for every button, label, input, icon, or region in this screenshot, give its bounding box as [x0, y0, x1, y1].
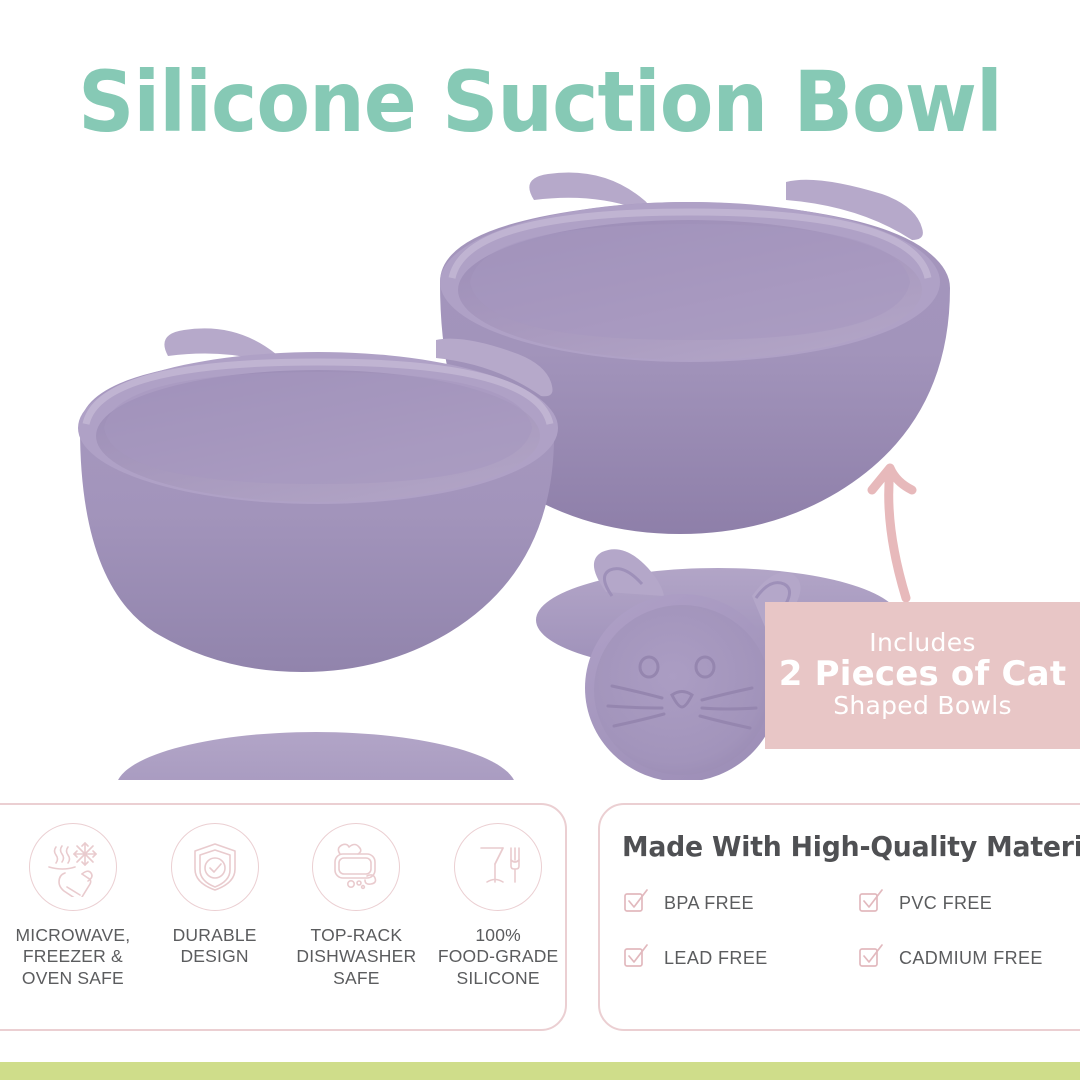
callout-line-3: Shaped Bowls [833, 692, 1012, 720]
material-item-lead-free: LEAD FREE [622, 942, 857, 975]
material-item-pvc-free: PVC FREE [857, 887, 1080, 920]
feature-label: MICROWAVE, FREEZER & OVEN SAFE [15, 925, 130, 989]
feature-label: TOP-RACK DISHWASHER SAFE [296, 925, 416, 989]
feature-label: DURABLE DESIGN [173, 925, 257, 968]
material-label: CADMIUM FREE [899, 948, 1043, 969]
feature-top-rack-dishwasher: TOP-RACK DISHWASHER SAFE [290, 823, 422, 989]
checkbox-checked-icon [857, 887, 885, 920]
feature-label: 100% FOOD-GRADE SILICONE [438, 925, 559, 989]
features-panel: MICROWAVE, FREEZER & OVEN SAFE DURABLE D… [0, 803, 567, 1031]
material-item-bpa-free: BPA FREE [622, 887, 857, 920]
checkbox-checked-icon [622, 887, 650, 920]
callout-line-2: 2 Pieces of Cat [779, 656, 1067, 692]
material-label: PVC FREE [899, 893, 992, 914]
bottom-accent-bar [0, 1062, 1080, 1080]
glass-fork-food-grade-icon [454, 823, 542, 911]
materials-title: Made With High-Quality Materials [622, 831, 1080, 863]
infographic-stage: Silicone Suction Bowl [0, 0, 1080, 1080]
material-label: LEAD FREE [664, 948, 768, 969]
callout-line-1: Includes [869, 629, 975, 656]
feature-microwave-freezer-oven: MICROWAVE, FREEZER & OVEN SAFE [7, 823, 139, 989]
materials-panel: Made With High-Quality Materials BPA FRE… [598, 803, 1080, 1031]
material-label: BPA FREE [664, 893, 754, 914]
checkbox-checked-icon [857, 942, 885, 975]
dishwasher-icon [312, 823, 400, 911]
page-title: Silicone Suction Bowl [38, 58, 1042, 146]
small-bowl-suction-base [116, 732, 516, 780]
features-list: MICROWAVE, FREEZER & OVEN SAFE DURABLE D… [2, 805, 569, 1033]
feature-food-grade-silicone: 100% FOOD-GRADE SILICONE [432, 823, 564, 989]
curved-arrow-to-suction-base [872, 468, 912, 598]
checkbox-checked-icon [622, 942, 650, 975]
microwave-freezer-oven-icon [29, 823, 117, 911]
includes-callout-box: Includes 2 Pieces of Cat Shaped Bowls [765, 602, 1080, 749]
product-image-area: Includes 2 Pieces of Cat Shaped Bowls [0, 160, 1080, 780]
materials-list: BPA FREE PVC FREE LEAD [622, 887, 1080, 975]
material-item-cadmium-free: CADMIUM FREE [857, 942, 1080, 975]
feature-durable-design: DURABLE DESIGN [149, 823, 281, 968]
shield-check-icon [171, 823, 259, 911]
